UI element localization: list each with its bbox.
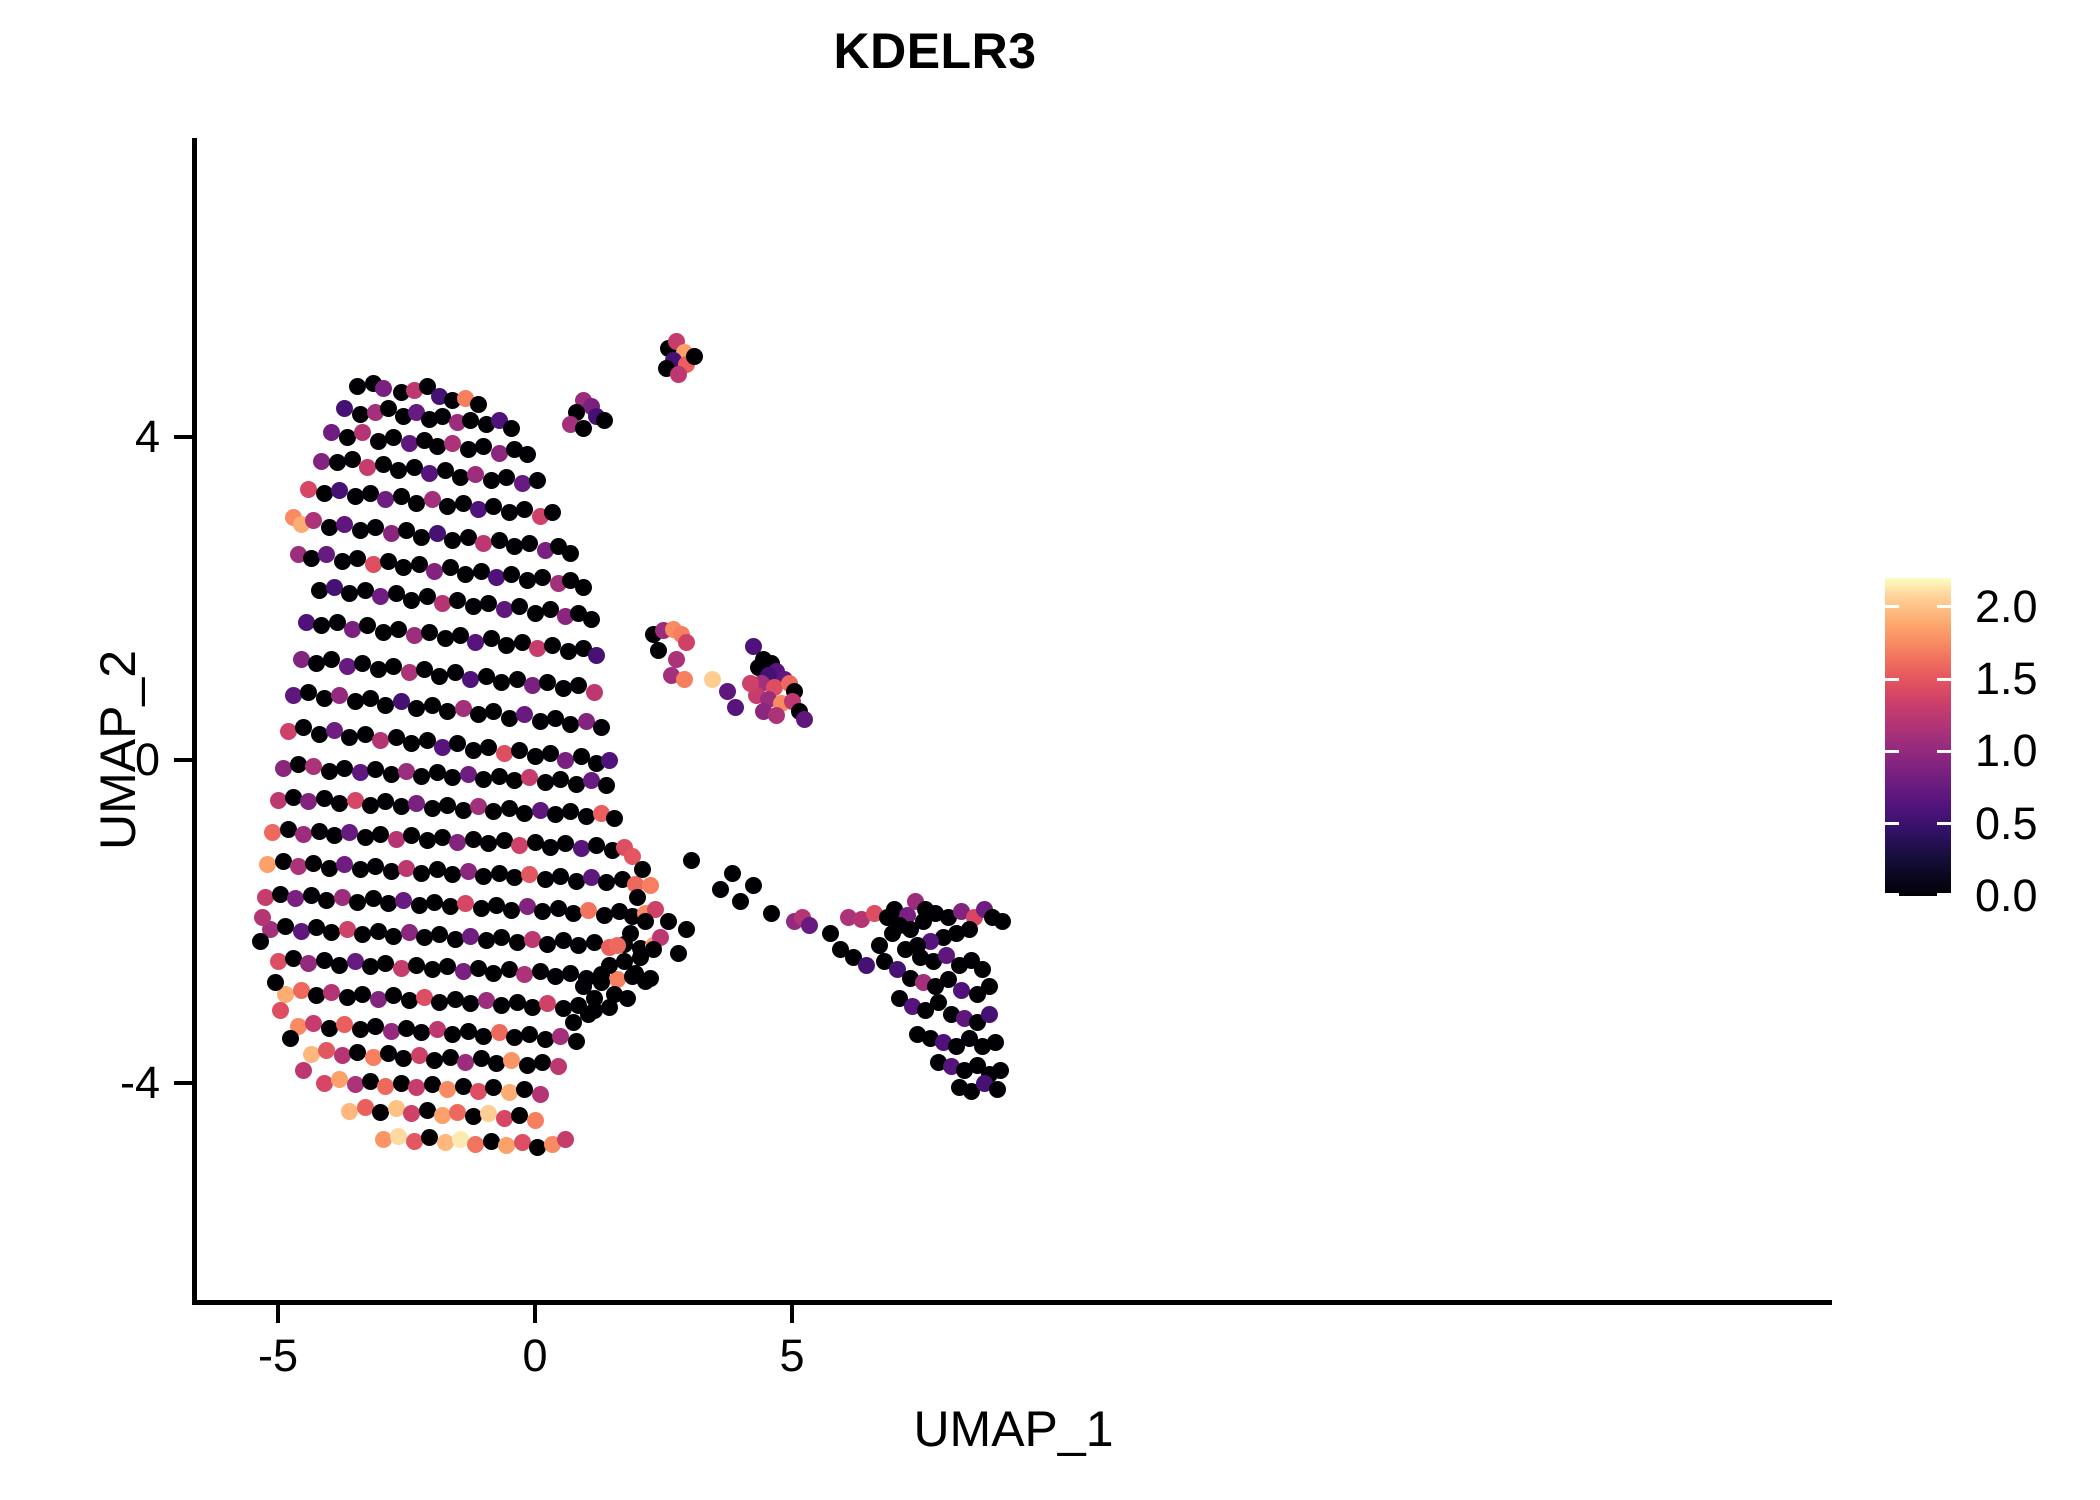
scatter-point (352, 522, 369, 539)
scatter-point (457, 895, 474, 912)
scatter-point (475, 868, 492, 885)
y-axis-title: UMAP_2 (89, 650, 147, 850)
colorbar-tick-mark (1937, 605, 1951, 608)
scatter-point (534, 569, 551, 586)
scatter-point (519, 446, 536, 463)
scatter-point (539, 995, 556, 1012)
scatter-point (550, 1058, 567, 1075)
scatter-point (902, 921, 919, 938)
scatter-point (295, 826, 312, 843)
colorbar-tick-label: 0.5 (1975, 798, 2038, 850)
scatter-point (331, 687, 348, 704)
scatter-point (367, 761, 384, 778)
scatter-point (511, 742, 528, 759)
scatter-point (316, 485, 333, 502)
scatter-point (336, 1016, 353, 1033)
scatter-point (496, 1110, 513, 1127)
scatter-point (491, 532, 508, 549)
scatter-point (385, 658, 402, 675)
scatter-point (568, 776, 585, 793)
scatter-point (336, 400, 353, 417)
scatter-point (318, 546, 335, 563)
scatter-point (670, 945, 687, 962)
scatter-point (347, 792, 364, 809)
scatter-point (329, 454, 346, 471)
scatter-point (485, 498, 502, 515)
scatter-point (480, 835, 497, 852)
scatter-point (377, 1078, 394, 1095)
scatter-point (447, 931, 464, 948)
scatter-point (437, 630, 454, 647)
scatter-point (311, 823, 328, 840)
scatter-point (424, 961, 441, 978)
scatter-point (401, 664, 418, 681)
scatter-point (323, 984, 340, 1001)
scatter-point (305, 855, 322, 872)
scatter-point (421, 465, 438, 482)
scatter-point (539, 936, 556, 953)
scatter-point (516, 501, 533, 518)
scatter-point (341, 824, 358, 841)
scatter-point (473, 563, 490, 580)
scatter-point (349, 378, 366, 395)
scatter-point (444, 769, 461, 786)
colorbar-tick-mark (1885, 678, 1899, 681)
scatter-point (822, 925, 839, 942)
scatter-point (318, 892, 335, 909)
scatter-point (372, 826, 389, 843)
scatter-point (642, 877, 659, 894)
scatter-point (421, 624, 438, 641)
scatter-point (431, 994, 448, 1011)
scatter-point (598, 777, 615, 794)
scatter-point (509, 934, 526, 951)
scatter-point (313, 453, 330, 470)
scatter-point (455, 700, 472, 717)
scatter-point (670, 366, 687, 383)
colorbar-tick-label: 1.5 (1975, 653, 2038, 705)
scatter-point (449, 1104, 466, 1121)
scatter-point (511, 598, 528, 615)
scatter-point (521, 535, 538, 552)
scatter-point (293, 923, 310, 940)
scatter-point (455, 495, 472, 512)
scatter-point (300, 481, 317, 498)
scatter-point (457, 566, 474, 583)
scatter-point (444, 866, 461, 883)
scatter-point (401, 992, 418, 1009)
scatter-point (537, 1031, 554, 1048)
x-tick-label: 5 (779, 1330, 804, 1382)
scatter-point (485, 803, 502, 820)
scatter-point (974, 961, 991, 978)
scatter-point (496, 601, 513, 618)
scatter-point (480, 1105, 497, 1122)
scatter-point (270, 792, 287, 809)
scatter-point (586, 684, 603, 701)
scatter-point (527, 834, 544, 851)
scatter-point (359, 617, 376, 634)
scatter-point (359, 459, 376, 476)
scatter-point (272, 1002, 289, 1019)
scatter-point (544, 637, 561, 654)
scatter-point (516, 706, 533, 723)
scatter-point (801, 917, 818, 934)
colorbar-tick-mark (1937, 678, 1951, 681)
scatter-point (323, 424, 340, 441)
scatter-point (568, 873, 585, 890)
scatter-point (367, 519, 384, 536)
scatter-point (408, 957, 425, 974)
scatter-point (527, 748, 544, 765)
scatter-point (385, 987, 402, 1004)
scatter-point (619, 990, 636, 1007)
scatter-point (349, 550, 366, 567)
scatter-point (532, 802, 549, 819)
scatter-point (354, 986, 371, 1003)
scatter-point (383, 863, 400, 880)
scatter-point (295, 719, 312, 736)
scatter-point (413, 768, 430, 785)
scatter-point (586, 934, 603, 951)
colorbar-tick-mark (1937, 822, 1951, 825)
scatter-point (372, 588, 389, 605)
scatter-point (521, 1026, 538, 1043)
scatter-point (557, 835, 574, 852)
scatter-point (496, 745, 513, 762)
scatter-point (254, 909, 271, 926)
scatter-point (593, 719, 610, 736)
scatter-point (493, 997, 510, 1014)
scatter-point (570, 937, 587, 954)
colorbar-tick-label: 1.0 (1975, 725, 2038, 777)
scatter-point (493, 674, 510, 691)
scatter-point (485, 1079, 502, 1096)
scatter-point (347, 1076, 364, 1093)
scatter-point (724, 865, 741, 882)
scatter-point (431, 926, 448, 943)
scatter-point (311, 726, 328, 743)
scatter-point (401, 924, 418, 941)
colorbar-tick-mark (1885, 822, 1899, 825)
scatter-point (444, 1026, 461, 1043)
scatter-point (514, 1134, 531, 1151)
scatter-point (395, 559, 412, 576)
y-tick-label: -4 (120, 1057, 160, 1109)
scatter-point (257, 889, 274, 906)
y-tick-label: 4 (135, 411, 160, 463)
x-axis-line (192, 1300, 1832, 1305)
scatter-point (367, 1018, 384, 1035)
page-title: KDELR3 (0, 22, 1870, 80)
scatter-point (475, 438, 492, 455)
scatter-point (390, 1128, 407, 1145)
scatter-point (588, 647, 605, 664)
x-tick-mark (790, 1305, 794, 1323)
scatter-point (539, 674, 556, 691)
scatter-point (419, 588, 436, 605)
scatter-point (331, 482, 348, 499)
scatter-point (385, 928, 402, 945)
scatter-point (562, 716, 579, 733)
scatter-point (336, 516, 353, 533)
scatter-point (341, 1103, 358, 1120)
scatter-point (323, 651, 340, 668)
scatter-point (491, 445, 508, 462)
scatter-point (516, 1081, 533, 1098)
scatter-point (529, 472, 546, 489)
scatter-point (300, 793, 317, 810)
scatter-point (352, 406, 369, 423)
scatter-point (313, 617, 330, 634)
scatter-point (509, 671, 526, 688)
scatter-point (871, 937, 888, 954)
scatter-point (419, 1102, 436, 1119)
scatter-point (408, 700, 425, 717)
colorbar-tick-label: 0.0 (1975, 870, 2038, 922)
colorbar-tick-mark (1885, 605, 1899, 608)
scatter-point (419, 832, 436, 849)
scatter-point (439, 498, 456, 515)
scatter-point (470, 396, 487, 413)
scatter-point (449, 592, 466, 609)
scatter-point (467, 634, 484, 651)
scatter-point (442, 898, 459, 915)
colorbar-tick-mark (1937, 893, 1951, 896)
scatter-point (509, 994, 526, 1011)
scatter-point (514, 475, 531, 492)
scatter-point (493, 929, 510, 946)
scatter-point (352, 1021, 369, 1038)
scatter-point (252, 933, 269, 950)
scatter-point (475, 771, 492, 788)
x-tick-mark (533, 1305, 537, 1323)
scatter-point (632, 949, 649, 966)
scatter-point (347, 953, 364, 970)
scatter-point (580, 1006, 597, 1023)
scatter-point (287, 890, 304, 907)
scatter-point (521, 769, 538, 786)
scatter-point (704, 671, 721, 688)
scatter-point (678, 921, 695, 938)
scatter-point (316, 690, 333, 707)
scatter-point (519, 1057, 536, 1074)
scatter-point (331, 1071, 348, 1088)
x-axis-title: UMAP_1 (195, 1400, 1832, 1458)
scatter-point (462, 928, 479, 945)
scatter-point (676, 671, 693, 688)
scatter-point (503, 566, 520, 583)
scatter-point (532, 713, 549, 730)
scatter-point (485, 965, 502, 982)
scatter-point (275, 853, 292, 870)
scatter-point (629, 889, 646, 906)
scatter-point (491, 768, 508, 785)
scatter-point (537, 871, 554, 888)
scatter-point (377, 491, 394, 508)
y-axis-line (192, 138, 197, 1305)
scatter-point (457, 1054, 474, 1071)
scatter-point (994, 913, 1011, 930)
scatter-point (480, 739, 497, 756)
scatter-point (475, 1028, 492, 1045)
scatter-point (467, 1136, 484, 1153)
scatter-point (637, 913, 654, 930)
scatter-point (439, 797, 456, 814)
x-tick-label: 0 (522, 1330, 547, 1382)
scatter-point (498, 1137, 515, 1154)
scatter-point (511, 1107, 528, 1124)
scatter-point (349, 894, 366, 911)
scatter-point (336, 856, 353, 873)
scatter-point (562, 545, 579, 562)
scatter-point (511, 837, 528, 854)
x-tick-mark (276, 1305, 280, 1323)
scatter-point (516, 966, 533, 983)
scatter-point (989, 1081, 1006, 1098)
scatter-point (408, 1079, 425, 1096)
scatter-point (444, 532, 461, 549)
scatter-point (383, 766, 400, 783)
colorbar-tick-mark (1885, 750, 1899, 753)
scatter-point (311, 582, 328, 599)
scatter-point (480, 595, 497, 612)
scatter-point (426, 894, 443, 911)
scatter-point (275, 760, 292, 777)
scatter-point (455, 1078, 472, 1095)
y-tick-mark (174, 1081, 192, 1085)
scatter-point (768, 707, 785, 724)
scatter-point (562, 803, 579, 820)
scatter-point (372, 1104, 389, 1121)
scatter-point (426, 1052, 443, 1069)
scatter-point (437, 1134, 454, 1151)
scatter-point (282, 1030, 299, 1047)
scatter-point (395, 892, 412, 909)
scatter-point (270, 953, 287, 970)
scatter-point (334, 553, 351, 570)
scatter-point (981, 1006, 998, 1023)
scatter-point (485, 703, 502, 720)
scatter-point (449, 735, 466, 752)
scatter-point (406, 627, 423, 644)
scatter-point (419, 732, 436, 749)
scatter-point (601, 752, 618, 769)
scatter-point (570, 677, 587, 694)
scatter-point (544, 504, 561, 521)
scatter-point (557, 752, 574, 769)
scatter-point (439, 958, 456, 975)
scatter-point (395, 1050, 412, 1067)
scatter-point (408, 495, 425, 512)
scatter-point (305, 1015, 322, 1032)
scatter-point (992, 1062, 1009, 1079)
scatter-point (383, 1023, 400, 1040)
scatter-point (385, 429, 402, 446)
scatter-point (897, 941, 914, 958)
scatter-point (686, 348, 703, 365)
scatter-point (424, 800, 441, 817)
scatter-point (460, 441, 477, 458)
scatter-point (473, 1050, 490, 1067)
scatter-point (678, 634, 695, 651)
x-tick-label: -5 (258, 1330, 298, 1382)
scatter-point (267, 974, 284, 991)
scatter-point (264, 824, 281, 841)
scatter-point (683, 852, 700, 869)
scatter-point (527, 605, 544, 622)
scatter-point (401, 435, 418, 452)
scatter-point (347, 488, 364, 505)
colorbar-tick-mark (1885, 893, 1899, 896)
colorbar-gradient (1885, 578, 1951, 896)
scatter-point (403, 735, 420, 752)
scatter-point (421, 1129, 438, 1146)
scatter-point (293, 982, 310, 999)
scatter-point (449, 834, 466, 851)
scatter-point (588, 837, 605, 854)
scatter-point (478, 932, 495, 949)
scatter-point (300, 955, 317, 972)
scatter-point (334, 1047, 351, 1064)
scatter-point (763, 905, 780, 922)
scatter-point (575, 579, 592, 596)
scatter-point (503, 420, 520, 437)
scatter-point (727, 699, 744, 716)
scatter-point (462, 671, 479, 688)
scatter-point (467, 466, 484, 483)
scatter-point (598, 874, 615, 891)
scatter-point (796, 711, 813, 728)
scatter-point (426, 563, 443, 580)
scatter-point (557, 1131, 574, 1148)
scatter-point (413, 865, 430, 882)
scatter-point (465, 742, 482, 759)
scatter-point (462, 412, 479, 429)
colorbar-tick-mark (1937, 750, 1951, 753)
scatter-plot-panel (195, 140, 1832, 1302)
scatter-point (377, 955, 394, 972)
scatter-point (403, 592, 420, 609)
scatter-point (305, 758, 322, 775)
scatter-point (634, 861, 651, 878)
scatter-point (372, 732, 389, 749)
scatter-point (295, 1062, 312, 1079)
scatter-point (375, 380, 392, 397)
scatter-point (491, 865, 508, 882)
scatter-point (745, 877, 762, 894)
scatter-point (277, 918, 294, 935)
y-tick-mark (174, 758, 192, 762)
scatter-point (367, 858, 384, 875)
scatter-point (575, 420, 592, 437)
scatter-point (365, 1049, 382, 1066)
scatter-point (565, 1014, 582, 1031)
scatter-point (377, 697, 394, 714)
scatter-point (431, 668, 448, 685)
scatter-point (596, 412, 613, 429)
scatter-point (534, 1054, 551, 1071)
scatter-point (719, 683, 736, 700)
scatter-point (473, 900, 490, 917)
scatter-point (475, 535, 492, 552)
scatter-point (503, 1052, 520, 1069)
scatter-point (259, 856, 276, 873)
scatter-point (462, 995, 479, 1012)
y-tick-mark (174, 435, 192, 439)
scatter-point (370, 661, 387, 678)
scatter-point (439, 1081, 456, 1098)
